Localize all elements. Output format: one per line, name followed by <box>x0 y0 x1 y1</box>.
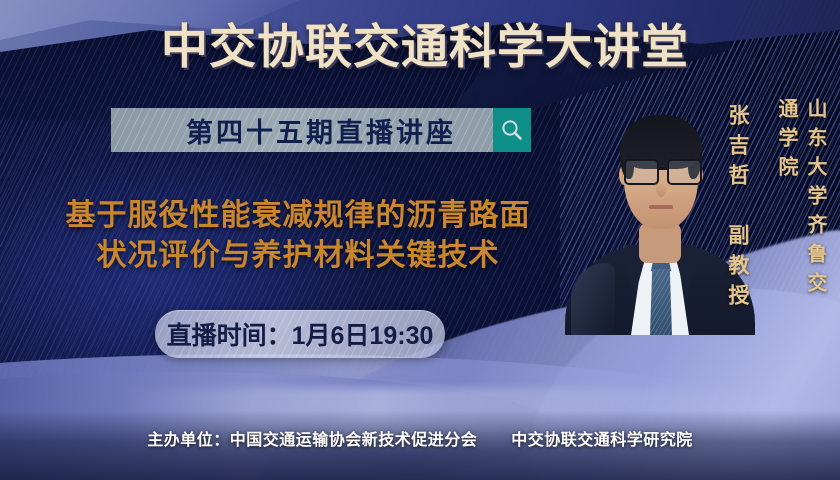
footer-organizer-secondary: 中交协联交通科学研究院 <box>511 432 693 449</box>
search-icon[interactable] <box>493 108 531 152</box>
glasses-lens-left <box>624 159 659 185</box>
speaker-name: 张吉哲 副教授 <box>722 104 752 319</box>
footer-organizers: 主办单位：中国交通运输协会新技术促进分会 中交协联交通科学研究院 <box>0 426 840 450</box>
broadcast-time-badge: 直播时间：1月6日19:30 <box>155 310 445 358</box>
lecture-headline: 基于服役性能衰减规律的沥青路面 状况评价与养护材料关键技术 <box>18 196 578 276</box>
speaker-affiliation: 山东大学齐鲁交通学院 <box>772 98 830 328</box>
portrait-tie <box>650 269 672 335</box>
session-label: 第四十五期直播讲座 <box>148 111 456 150</box>
footer-organizer-primary: 主办单位：中国交通运输协会新技术促进分会 <box>147 432 477 449</box>
headline-line-2: 状况评价与养护材料关键技术 <box>18 236 578 276</box>
glasses-bridge <box>657 167 667 170</box>
glasses-icon <box>621 159 701 183</box>
portrait-mouth <box>649 205 673 209</box>
portrait-nose <box>656 181 666 197</box>
live-stream-poster: 中交协联交通科学大讲堂 第四十五期直播讲座 基于服役性能衰减规律的沥青路面 状况… <box>0 0 840 480</box>
session-bar: 第四十五期直播讲座 <box>111 108 531 152</box>
page-title: 中交协联交通科学大讲堂 <box>140 18 710 76</box>
headline-line-1: 基于服役性能衰减规律的沥青路面 <box>18 196 578 236</box>
broadcast-time-label: 直播时间：1月6日19:30 <box>167 316 434 352</box>
glasses-lens-right <box>667 159 702 185</box>
session-bar-body: 第四十五期直播讲座 <box>111 108 493 152</box>
portrait-neck <box>639 223 681 263</box>
